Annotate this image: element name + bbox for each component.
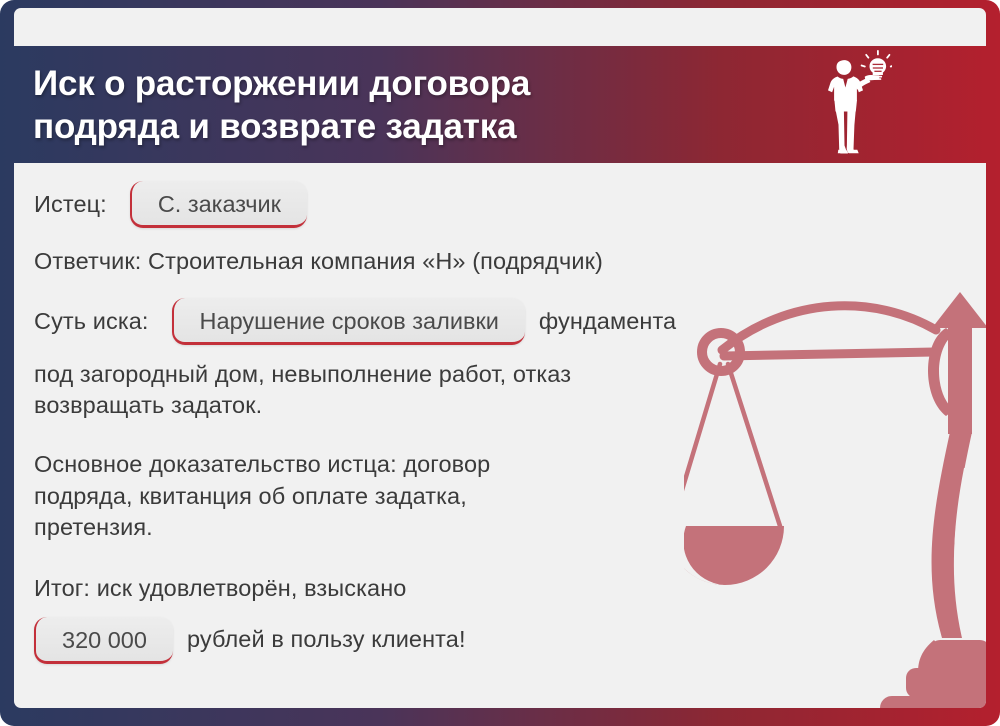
result-tail-text: рублей в пользу клиента! bbox=[187, 624, 466, 655]
businessman-with-lightbulb-icon bbox=[820, 50, 892, 158]
result-amount-chip[interactable]: 320 000 bbox=[34, 617, 173, 664]
plaintiff-value-chip[interactable]: С. заказчик bbox=[130, 181, 307, 228]
result-label: Итог: иск удовлетворён, взыскано bbox=[34, 575, 406, 601]
plaintiff-row: Истец: С. заказчик bbox=[34, 181, 824, 228]
card-header: Иск о расторжении договора подряда и воз… bbox=[0, 46, 1000, 163]
card-top-strip bbox=[14, 8, 986, 46]
page-title: Иск о расторжении договора подряда и воз… bbox=[33, 62, 753, 148]
claim-row: Суть иска: Нарушение сроков заливки фунд… bbox=[34, 298, 824, 345]
result-label-row: Итог: иск удовлетворён, взыскано bbox=[34, 573, 824, 604]
claim-label: Суть иска: bbox=[34, 306, 149, 337]
result-amount-row: 320 000 рублей в пользу клиента! bbox=[34, 617, 824, 664]
info-card: Иск о расторжении договора подряда и воз… bbox=[0, 0, 1000, 726]
content-area: Истец: С. заказчик Ответчик: Строительна… bbox=[34, 181, 824, 664]
defendant-text: Ответчик: Строительная компания «Н» (под… bbox=[34, 248, 603, 274]
claim-continuation-text: под загородный дом, невыполнение работ, … bbox=[34, 359, 824, 422]
claim-value-chip[interactable]: Нарушение сроков заливки bbox=[172, 298, 525, 345]
card-body: Истец: С. заказчик Ответчик: Строительна… bbox=[14, 163, 986, 708]
evidence-text: Основное доказательство истца: договор п… bbox=[34, 449, 824, 543]
plaintiff-label: Истец: bbox=[34, 189, 107, 220]
claim-tail-text: фундамента bbox=[539, 306, 676, 337]
defendant-row: Ответчик: Строительная компания «Н» (под… bbox=[34, 246, 824, 277]
